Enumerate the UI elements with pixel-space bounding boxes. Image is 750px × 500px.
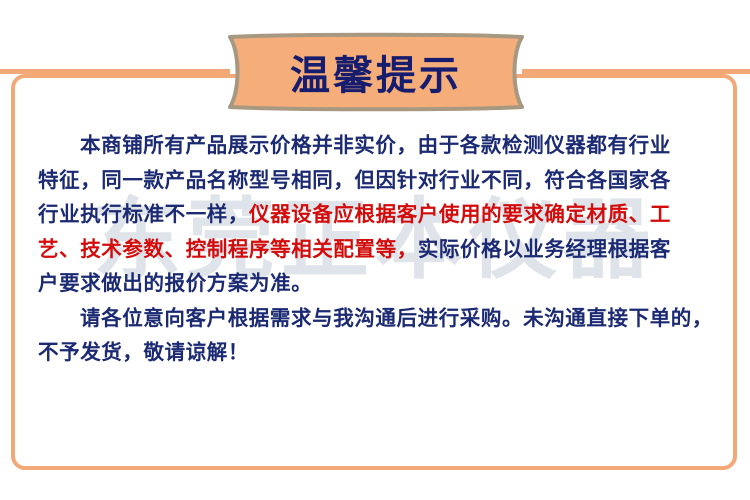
notice-line: 请各位意向客户根据需求与我沟通后进行采购。未沟通直接下单的，: [38, 301, 714, 336]
notice-text-segment-navy: 实际价格以业务经理根据客: [418, 237, 671, 261]
notice-line: 特征，同一款产品名称型号相同，但因针对行业不同，符合各国家各: [38, 163, 714, 198]
notice-page: 东莞正本仪器 温馨提示 本商铺所有产品展示价格并非实价，由于各款检测仪器都有行业…: [0, 0, 750, 500]
notice-line: 不予发货，敬请谅解！: [38, 335, 714, 370]
notice-body: 本商铺所有产品展示价格并非实价，由于各款检测仪器都有行业特征，同一款产品名称型号…: [38, 128, 714, 370]
notice-text-segment-red: 艺、技术参数、控制程序等相关配置等，: [38, 237, 418, 261]
notice-text-segment-navy: 户要求做出的报价方案为准。: [38, 271, 312, 295]
notice-text-segment-navy: 行业执行标准不一样，: [38, 202, 249, 226]
ribbon-tail-right-icon: [522, 69, 750, 74]
notice-text-segment-navy: 特征，同一款产品名称型号相同，但因针对行业不同，符合各国家各: [38, 168, 671, 192]
notice-text-segment-navy: 不予发货，敬请谅解！: [38, 340, 249, 364]
ribbon-tail-left-icon: [0, 69, 230, 74]
notice-line: 本商铺所有产品展示价格并非实价，由于各款检测仪器都有行业: [38, 128, 714, 163]
title-banner: 温馨提示: [222, 33, 530, 111]
notice-line: 行业执行标准不一样，仪器设备应根据客户使用的要求确定材质、工: [38, 197, 714, 232]
banner-title: 温馨提示: [222, 33, 530, 111]
notice-text-segment-red: 仪器设备应根据客户使用的要求确定材质、工: [249, 202, 671, 226]
notice-line: 艺、技术参数、控制程序等相关配置等，实际价格以业务经理根据客: [38, 232, 714, 267]
notice-line: 户要求做出的报价方案为准。: [38, 266, 714, 301]
notice-text-segment-navy: 本商铺所有产品展示价格并非实价，由于各款检测仪器都有行业: [80, 133, 671, 157]
notice-text-segment-navy: 请各位意向客户根据需求与我沟通后进行采购。未沟通直接下单的，: [80, 306, 713, 330]
